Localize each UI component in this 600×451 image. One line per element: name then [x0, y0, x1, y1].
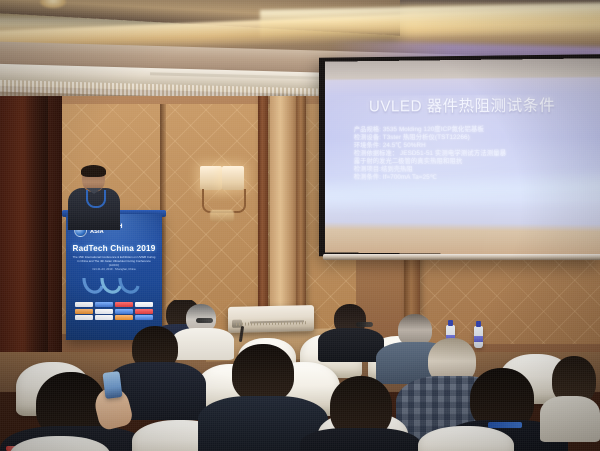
presenter-lanyard — [86, 190, 106, 208]
audience-shoulders — [540, 396, 600, 442]
presenter — [62, 166, 124, 226]
slide-title: UVLED 器件热阻测试条件 — [325, 93, 600, 117]
event-date: Oct 21-23, 2019 · Shanghai, China — [66, 267, 162, 271]
audience-head — [232, 344, 294, 402]
sconce-base-glow — [210, 210, 234, 222]
audience-shoulders — [172, 328, 234, 360]
sconce-shade-right — [222, 166, 244, 190]
screen-top-band — [325, 58, 600, 79]
screen-bottom-band — [325, 229, 600, 255]
sconce-shade-left — [200, 166, 222, 190]
audience-shoulders — [300, 428, 420, 451]
smartphone-icon — [102, 371, 122, 399]
presenter-hair — [81, 165, 106, 177]
audience-area — [0, 300, 600, 451]
logo-asia-text: ASIA — [90, 230, 123, 236]
wall-sconce-lamp-icon — [196, 166, 254, 232]
audience-shoulders — [318, 328, 384, 362]
swoosh-graphic-icon — [80, 274, 150, 300]
slide-line: 环境条件: 24.5℃ 50%RH — [354, 142, 579, 150]
screen-bottom-bar — [323, 254, 600, 260]
lanyard — [488, 422, 522, 428]
projection-screen: UVLED 器件热阻测试条件 产品规格: 3535 Molding 120度IC… — [325, 58, 600, 255]
conference-photo: UVLED 器件热阻测试条件 产品规格: 3535 Molding 120度IC… — [0, 0, 600, 451]
slide-body: 产品规格: 3535 Molding 120度ICP氮化铝基板 检测设备: T3… — [354, 126, 579, 183]
event-subtitle: The 15th International Conference & Exhi… — [72, 255, 156, 267]
eyeglasses-icon — [356, 322, 373, 327]
slide-line: 检测条件: If=700mA Ta=25℃ — [354, 174, 579, 183]
event-title: RadTech China 2019 — [66, 244, 162, 253]
slide-line: 露于射的发光二极管的真实热阻和阻抗 — [354, 158, 579, 166]
eyeglasses-icon — [196, 318, 213, 323]
slide-line: 检测依据标准： JESD51-51 实测电学测试方法测量暴 — [354, 150, 579, 158]
